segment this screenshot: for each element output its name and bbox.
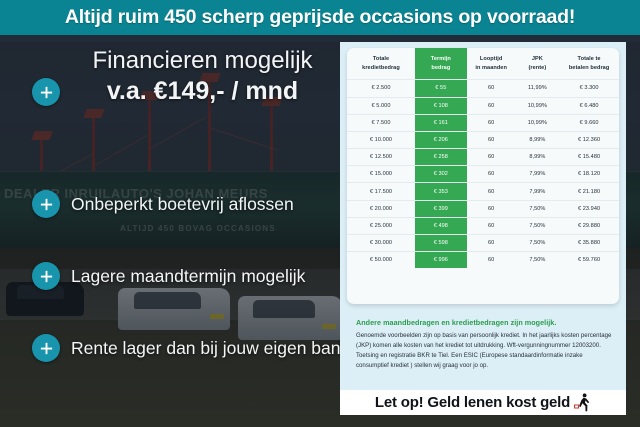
table-cell: 60: [467, 217, 516, 234]
rates-table-card: Totale kredietbedrag Termijn bedrag Loop…: [347, 48, 619, 304]
table-cell: € 3.300: [559, 80, 619, 97]
feature-bullet-rente-lager-dan-bij-jouw-eigen-bank: Rente lager dan bij jouw eigen bank: [32, 334, 349, 362]
table-row: € 50.000€ 996607,50%€ 59.760: [347, 252, 619, 269]
table-cell: 7,99%: [516, 166, 560, 183]
warning-bar: Let op! Geld lenen kost geld: [340, 390, 626, 415]
feature-bullet-onbeperkt-boetevrij-aflossen: Onbeperkt boetevrij aflossen: [32, 190, 294, 218]
table-cell: 7,50%: [516, 252, 560, 269]
table-cell: 10,99%: [516, 97, 560, 114]
table-cell: € 206: [415, 131, 467, 148]
table-cell: € 399: [415, 200, 467, 217]
note-body: Genoemde voorbeelden zijn op basis van p…: [356, 331, 614, 370]
table-cell: 7,50%: [516, 235, 560, 252]
headline-line-1: Financieren mogelijk: [92, 47, 312, 74]
column-header-looptijd: Looptijd in maanden: [467, 48, 516, 80]
table-cell: € 108: [415, 97, 467, 114]
table-row: € 20.000€ 399607,50%€ 23.940: [347, 200, 619, 217]
feature-bullet-label: Lagere maandtermijn mogelijk: [71, 266, 305, 287]
table-row: € 10.000€ 206608,99%€ 12.360: [347, 131, 619, 148]
table-cell: € 18.120: [559, 166, 619, 183]
table-row: € 12.500€ 258608,99%€ 15.480: [347, 149, 619, 166]
left-content-column: Financieren mogelijk v.a. €149,- / mnd O…: [0, 42, 345, 427]
table-cell: € 30.000: [347, 235, 415, 252]
table-cell: € 23.940: [559, 200, 619, 217]
table-cell: € 59.760: [559, 252, 619, 269]
table-cell: € 17.500: [347, 183, 415, 200]
table-row: € 7.500€ 1616010,99%€ 9.660: [347, 114, 619, 131]
table-cell: € 25.000: [347, 217, 415, 234]
feature-bullet-label: Rente lager dan bij jouw eigen bank: [71, 338, 349, 359]
table-cell: € 498: [415, 217, 467, 234]
warning-text: Let op! Geld lenen kost geld: [375, 394, 570, 411]
table-cell: € 9.660: [559, 114, 619, 131]
table-cell: € 55: [415, 80, 467, 97]
table-cell: € 996: [415, 252, 467, 269]
table-cell: € 12.500: [347, 149, 415, 166]
table-cell: € 258: [415, 149, 467, 166]
table-cell: € 6.480: [559, 97, 619, 114]
table-cell: € 353: [415, 183, 467, 200]
walking-man-icon: [574, 393, 591, 412]
table-cell: 60: [467, 131, 516, 148]
table-cell: € 15.000: [347, 166, 415, 183]
table-cell: € 15.480: [559, 149, 619, 166]
rates-table: Totale kredietbedrag Termijn bedrag Loop…: [347, 48, 619, 268]
table-cell: € 5.000: [347, 97, 415, 114]
table-cell: 60: [467, 80, 516, 97]
table-cell: 60: [467, 252, 516, 269]
table-row: € 25.000€ 498607,50%€ 29.880: [347, 217, 619, 234]
plus-icon: [32, 78, 60, 106]
table-cell: € 598: [415, 235, 467, 252]
table-row: € 15.000€ 302607,99%€ 18.120: [347, 166, 619, 183]
table-cell: € 20.000: [347, 200, 415, 217]
table-row: € 17.500€ 353607,99%€ 21.180: [347, 183, 619, 200]
top-banner-text: Altijd ruim 450 scherp geprijsde occasio…: [65, 6, 575, 29]
table-cell: 7,99%: [516, 183, 560, 200]
feature-bullet-lagere-maandtermijn-mogelijk: Lagere maandtermijn mogelijk: [32, 262, 305, 290]
table-cell: € 161: [415, 114, 467, 131]
column-header-totale-kredietbedrag: Totale kredietbedrag: [347, 48, 415, 80]
table-row: € 5.000€ 1086010,99%€ 6.480: [347, 97, 619, 114]
table-cell: 8,99%: [516, 149, 560, 166]
plus-icon: [32, 334, 60, 362]
table-cell: € 12.360: [559, 131, 619, 148]
column-header-jpk: JPK (rente): [516, 48, 560, 80]
note-title: Andere maandbedragen en kredietbedragen …: [356, 318, 618, 327]
table-cell: 60: [467, 97, 516, 114]
table-cell: € 302: [415, 166, 467, 183]
advertisement-banner: DEALER INRUILAUTO'S JOHAN MEURS ALTIJD 4…: [0, 0, 640, 427]
headline-line-2: v.a. €149,- / mnd: [60, 77, 345, 105]
rates-table-body: € 2.500€ 556011,99%€ 3.300€ 5.000€ 10860…: [347, 80, 619, 269]
headline: Financieren mogelijk v.a. €149,- / mnd: [60, 48, 345, 105]
feature-bullet-label: Onbeperkt boetevrij aflossen: [71, 194, 294, 215]
table-row: € 30.000€ 598607,50%€ 35.880: [347, 235, 619, 252]
column-header-termijn-bedrag: Termijn bedrag: [415, 48, 467, 80]
table-cell: 60: [467, 166, 516, 183]
table-cell: 11,99%: [516, 80, 560, 97]
table-cell: € 50.000: [347, 252, 415, 269]
table-cell: 7,50%: [516, 200, 560, 217]
table-cell: 60: [467, 183, 516, 200]
table-cell: 60: [467, 235, 516, 252]
banner-divider: [0, 35, 640, 42]
table-cell: € 2.500: [347, 80, 415, 97]
plus-icon: [32, 262, 60, 290]
table-header-row: Totale kredietbedrag Termijn bedrag Loop…: [347, 48, 619, 80]
plus-icon: [32, 190, 60, 218]
table-cell: € 7.500: [347, 114, 415, 131]
table-cell: € 35.880: [559, 235, 619, 252]
table-cell: 60: [467, 114, 516, 131]
table-cell: € 10.000: [347, 131, 415, 148]
table-cell: 10,99%: [516, 114, 560, 131]
table-cell: 60: [467, 200, 516, 217]
table-cell: 60: [467, 149, 516, 166]
top-banner: Altijd ruim 450 scherp geprijsde occasio…: [0, 0, 640, 35]
table-cell: 8,99%: [516, 131, 560, 148]
column-header-totale-te-betalen: Totale te betalen bedrag: [559, 48, 619, 80]
table-cell: 7,50%: [516, 217, 560, 234]
table-row: € 2.500€ 556011,99%€ 3.300: [347, 80, 619, 97]
table-cell: € 29.880: [559, 217, 619, 234]
table-cell: € 21.180: [559, 183, 619, 200]
